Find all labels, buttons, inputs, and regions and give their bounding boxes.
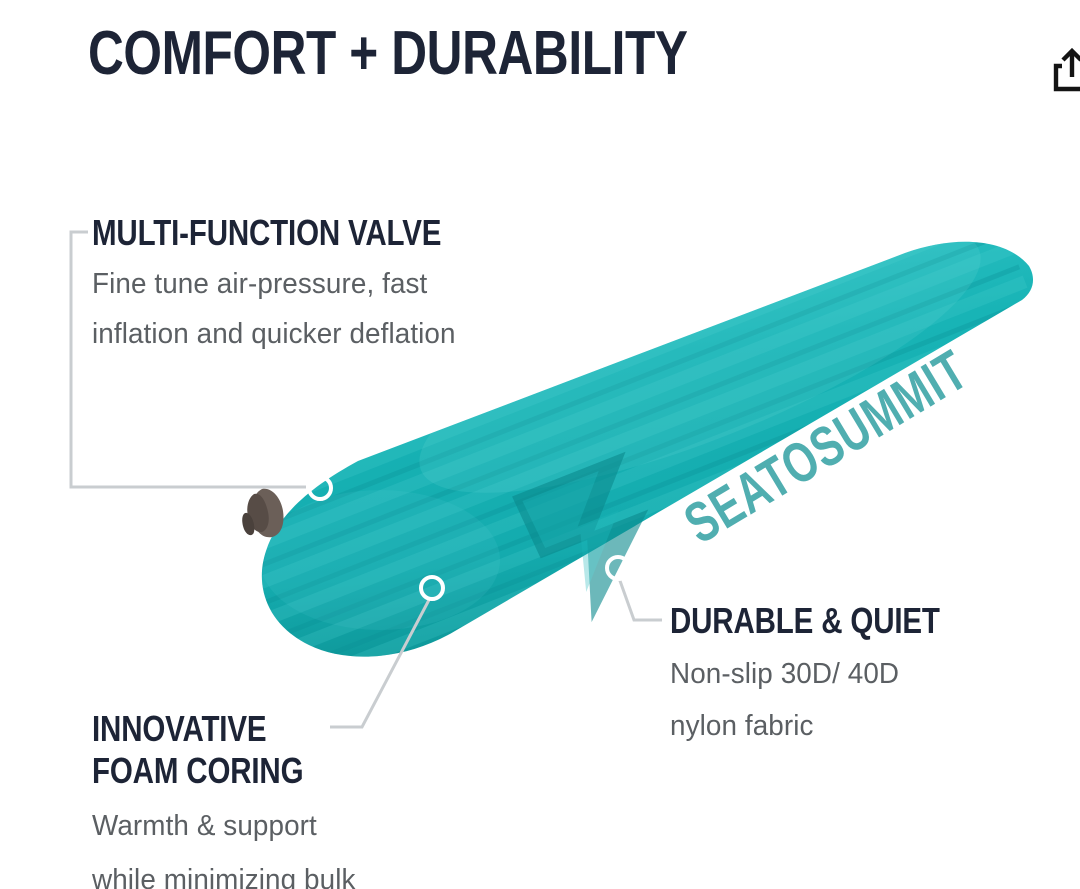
callout-durable-and-quiet: DURABLE & QUIET Non-slip 30D/ 40D nylon … [670, 600, 999, 746]
callout-multi-function-valve: MULTI-FUNCTION VALVE Fine tune air-press… [92, 212, 518, 354]
callout-title-foam-line2: FOAM CORING [92, 750, 317, 792]
callout-body-durable-line1: Non-slip 30D/ 40D [670, 654, 986, 694]
callout-body-valve-line1: Fine tune air-pressure, fast [92, 264, 501, 304]
callout-body-foam-line1: Warmth & support [92, 806, 356, 846]
product-feature-graphic: COMFORT + DURABILITY [0, 0, 1080, 889]
callout-body-durable-line2: nylon fabric [670, 706, 986, 746]
callout-body-foam-line2: while minimizing bulk [92, 860, 356, 889]
callout-body-valve-line2: inflation and quicker deflation [92, 314, 501, 354]
callout-title-durable: DURABLE & QUIET [670, 600, 940, 642]
callout-title-foam-line1: INNOVATIVE [92, 708, 317, 750]
callout-title-valve: MULTI-FUNCTION VALVE [92, 212, 441, 254]
valve [242, 489, 283, 538]
callout-innovative-foam-coring: INNOVATIVE FOAM CORING Warmth & support … [92, 708, 366, 889]
